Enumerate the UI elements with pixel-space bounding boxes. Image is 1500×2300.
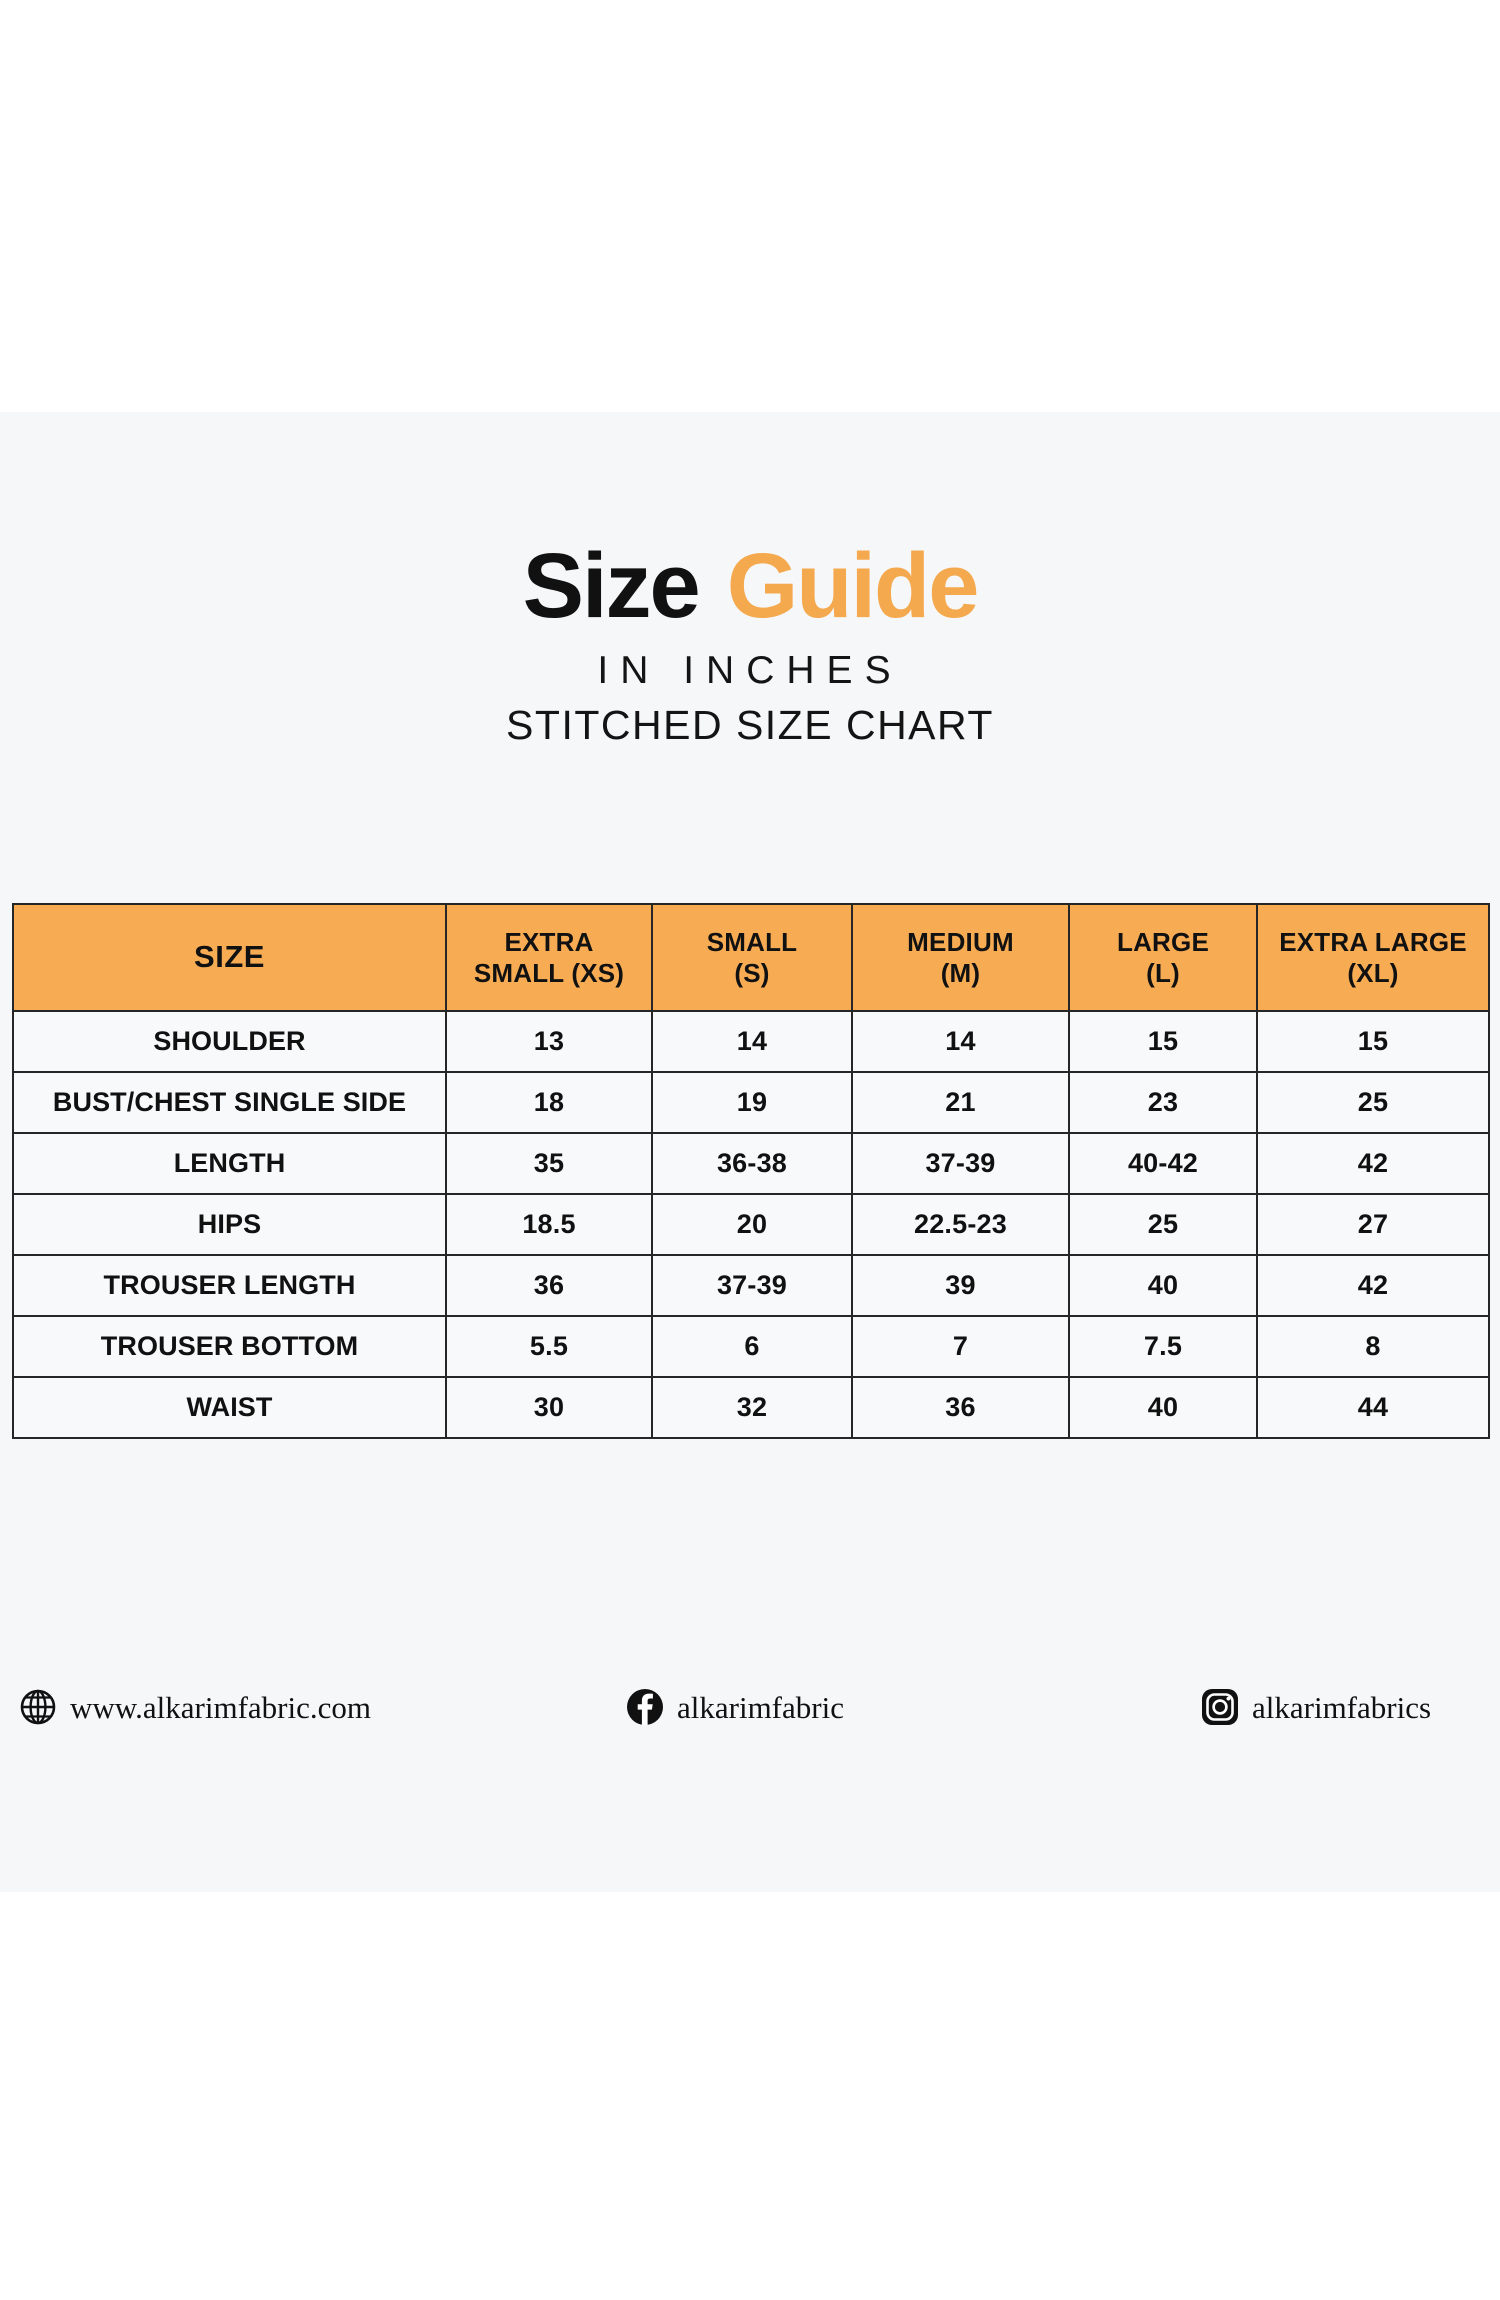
column-header-large: LARGE (L) <box>1069 904 1257 1011</box>
content-panel: SizeGuide IN INCHES STITCHED SIZE CHART … <box>0 412 1500 1892</box>
cell-trouser-bottom-l: 7.5 <box>1069 1316 1257 1377</box>
column-header-size-line1: SIZE <box>194 939 265 974</box>
footer-instagram-link[interactable]: alkarimfabrics <box>1200 1677 1431 1737</box>
cell-hips-s: 20 <box>652 1194 852 1255</box>
column-header-xl-line1: EXTRA LARGE <box>1279 927 1467 957</box>
column-header-l-line2: (L) <box>1146 958 1180 988</box>
column-header-size: SIZE <box>13 904 446 1011</box>
table-row: TROUSER BOTTOM 5.5 6 7 7.5 8 <box>13 1316 1489 1377</box>
row-label-shoulder: SHOULDER <box>13 1011 446 1072</box>
footer-facebook-label: alkarimfabric <box>677 1692 844 1723</box>
cell-bust-m: 21 <box>852 1072 1069 1133</box>
table-header-row: SIZE EXTRA SMALL (XS) SMALL (S) MEDIUM (… <box>13 904 1489 1011</box>
cell-bust-s: 19 <box>652 1072 852 1133</box>
size-guide-page: SizeGuide IN INCHES STITCHED SIZE CHART … <box>0 0 1500 2300</box>
title-word-size: Size <box>523 535 699 637</box>
table-row: LENGTH 35 36-38 37-39 40-42 42 <box>13 1133 1489 1194</box>
cell-trouser-bottom-xs: 5.5 <box>446 1316 652 1377</box>
page-title: SizeGuide <box>0 540 1500 632</box>
size-chart-table: SIZE EXTRA SMALL (XS) SMALL (S) MEDIUM (… <box>12 903 1490 1439</box>
cell-hips-l: 25 <box>1069 1194 1257 1255</box>
table-header: SIZE EXTRA SMALL (XS) SMALL (S) MEDIUM (… <box>13 904 1489 1011</box>
column-header-xs-line1: EXTRA <box>504 927 593 957</box>
cell-hips-xl: 27 <box>1257 1194 1489 1255</box>
column-header-medium: MEDIUM (M) <box>852 904 1069 1011</box>
cell-trouser-bottom-m: 7 <box>852 1316 1069 1377</box>
cell-waist-m: 36 <box>852 1377 1069 1438</box>
table-row: TROUSER LENGTH 36 37-39 39 40 42 <box>13 1255 1489 1316</box>
cell-shoulder-s: 14 <box>652 1011 852 1072</box>
cell-trouser-length-l: 40 <box>1069 1255 1257 1316</box>
cell-shoulder-m: 14 <box>852 1011 1069 1072</box>
cell-length-s: 36-38 <box>652 1133 852 1194</box>
instagram-icon <box>1200 1687 1240 1727</box>
cell-shoulder-xs: 13 <box>446 1011 652 1072</box>
title-word-guide: Guide <box>727 535 978 637</box>
column-header-extra-small: EXTRA SMALL (XS) <box>446 904 652 1011</box>
cell-trouser-bottom-s: 6 <box>652 1316 852 1377</box>
cell-bust-xs: 18 <box>446 1072 652 1133</box>
cell-length-xs: 35 <box>446 1133 652 1194</box>
column-header-extra-large: EXTRA LARGE (XL) <box>1257 904 1489 1011</box>
cell-trouser-length-m: 39 <box>852 1255 1069 1316</box>
row-label-hips: HIPS <box>13 1194 446 1255</box>
title-block: SizeGuide IN INCHES STITCHED SIZE CHART <box>0 540 1500 748</box>
globe-icon <box>18 1687 58 1727</box>
cell-trouser-length-xl: 42 <box>1257 1255 1489 1316</box>
cell-length-m: 37-39 <box>852 1133 1069 1194</box>
column-header-m-line1: MEDIUM <box>907 927 1014 957</box>
cell-waist-l: 40 <box>1069 1377 1257 1438</box>
cell-bust-xl: 25 <box>1257 1072 1489 1133</box>
row-label-length: LENGTH <box>13 1133 446 1194</box>
footer-website-label: www.alkarimfabric.com <box>70 1692 371 1723</box>
column-header-xs-line2: SMALL (XS) <box>474 958 624 988</box>
cell-shoulder-xl: 15 <box>1257 1011 1489 1072</box>
table-row: BUST/CHEST SINGLE SIDE 18 19 21 23 25 <box>13 1072 1489 1133</box>
subtitle-units: IN INCHES <box>0 650 1500 693</box>
column-header-m-line2: (M) <box>941 958 981 988</box>
row-label-trouser-length: TROUSER LENGTH <box>13 1255 446 1316</box>
row-label-trouser-bottom: TROUSER BOTTOM <box>13 1316 446 1377</box>
row-label-waist: WAIST <box>13 1377 446 1438</box>
footer-facebook-link[interactable]: alkarimfabric <box>625 1677 844 1737</box>
footer: www.alkarimfabric.com alkarimfabric alka… <box>0 1677 1500 1747</box>
column-header-s-line2: (S) <box>734 958 769 988</box>
cell-hips-xs: 18.5 <box>446 1194 652 1255</box>
cell-waist-xs: 30 <box>446 1377 652 1438</box>
subtitle-chart: STITCHED SIZE CHART <box>0 703 1500 748</box>
column-header-s-line1: SMALL <box>707 927 798 957</box>
cell-waist-xl: 44 <box>1257 1377 1489 1438</box>
column-header-small: SMALL (S) <box>652 904 852 1011</box>
table-row: SHOULDER 13 14 14 15 15 <box>13 1011 1489 1072</box>
cell-trouser-length-s: 37-39 <box>652 1255 852 1316</box>
cell-bust-l: 23 <box>1069 1072 1257 1133</box>
table-row: HIPS 18.5 20 22.5-23 25 27 <box>13 1194 1489 1255</box>
cell-shoulder-l: 15 <box>1069 1011 1257 1072</box>
row-label-bust-chest-single-side: BUST/CHEST SINGLE SIDE <box>13 1072 446 1133</box>
table-row: WAIST 30 32 36 40 44 <box>13 1377 1489 1438</box>
column-header-l-line1: LARGE <box>1117 927 1209 957</box>
cell-trouser-length-xs: 36 <box>446 1255 652 1316</box>
cell-length-xl: 42 <box>1257 1133 1489 1194</box>
footer-website-link[interactable]: www.alkarimfabric.com <box>18 1677 371 1737</box>
column-header-xl-line2: (XL) <box>1347 958 1398 988</box>
facebook-icon <box>625 1687 665 1727</box>
footer-instagram-label: alkarimfabrics <box>1252 1692 1431 1723</box>
cell-length-l: 40-42 <box>1069 1133 1257 1194</box>
cell-hips-m: 22.5-23 <box>852 1194 1069 1255</box>
cell-waist-s: 32 <box>652 1377 852 1438</box>
cell-trouser-bottom-xl: 8 <box>1257 1316 1489 1377</box>
table-body: SHOULDER 13 14 14 15 15 BUST/CHEST SINGL… <box>13 1011 1489 1438</box>
